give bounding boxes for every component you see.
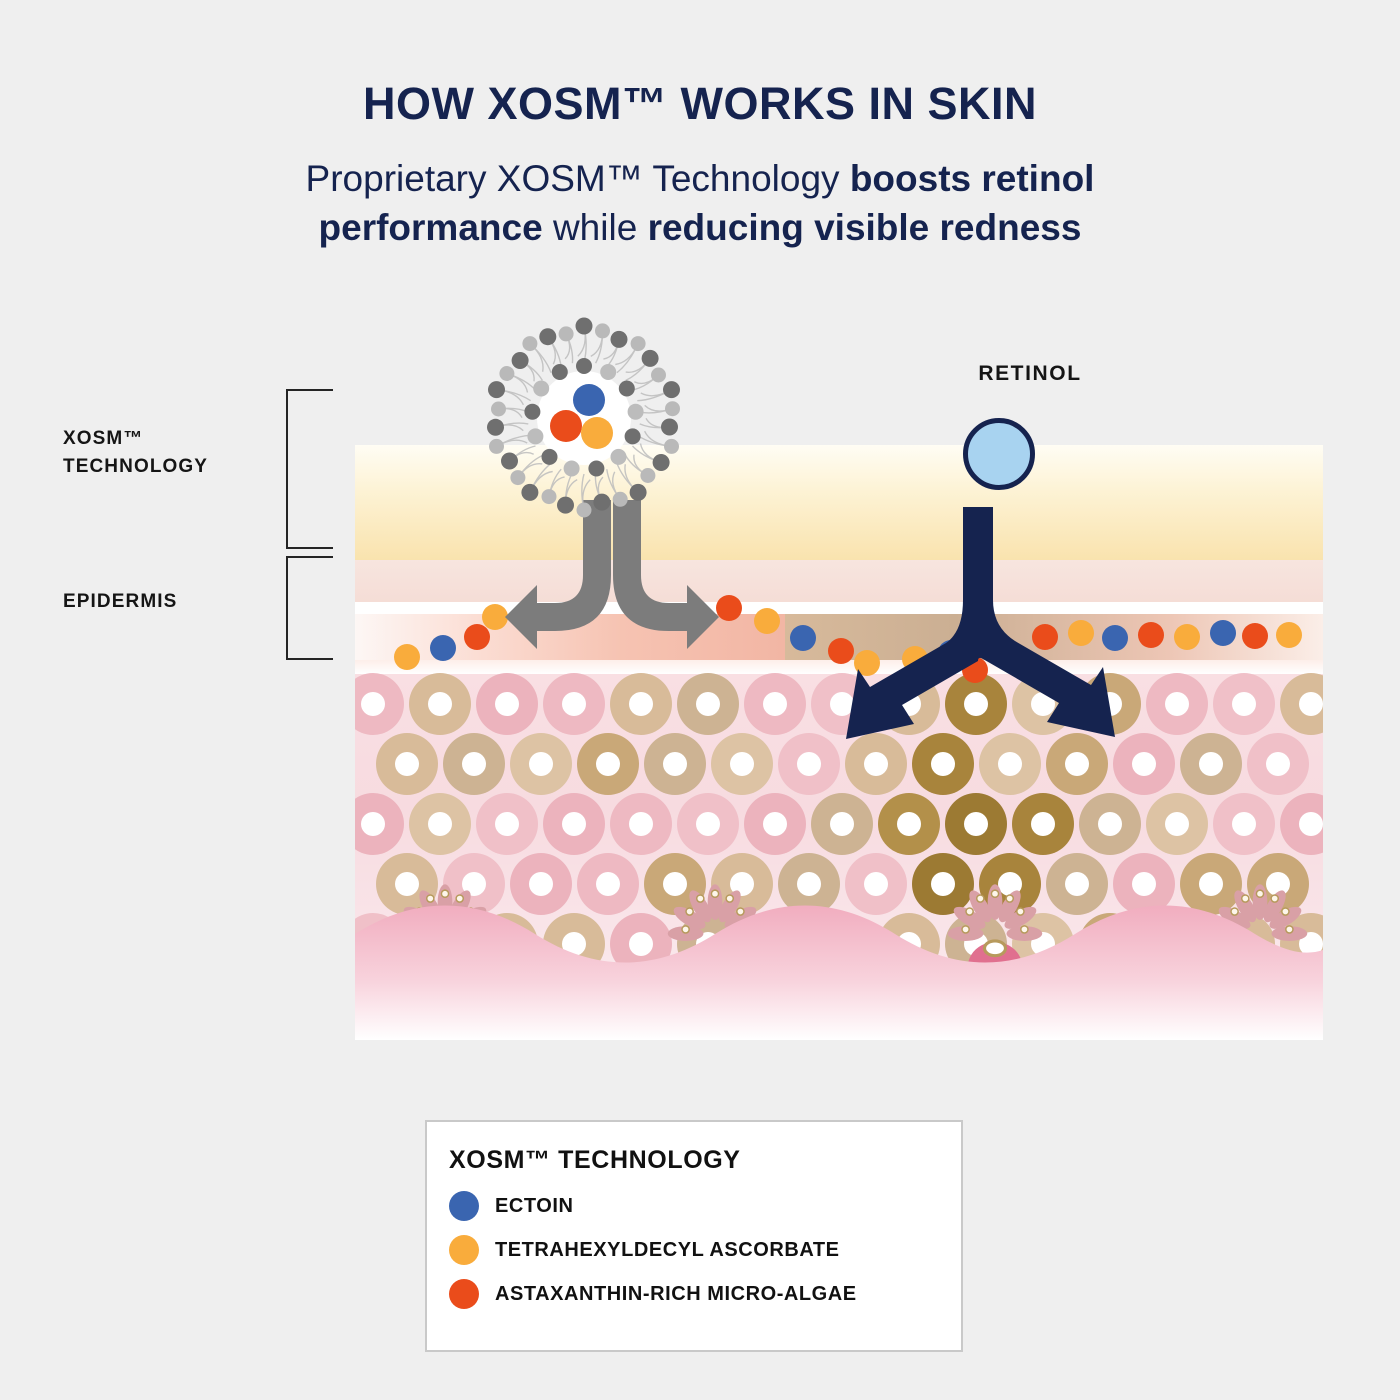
liposome-head-icon [489,439,504,454]
legend-item-2: ASTAXANTHIN-RICH MICRO-ALGAE [449,1279,961,1309]
legend-item-label: TETRAHEXYLDECYL ASCORBATE [495,1239,840,1262]
liposome-head-icon [664,439,679,454]
liposome-vesicle [473,307,695,529]
liposome-head-icon [593,494,610,511]
liposome-head-icon [512,352,529,369]
bracket-epidermis [286,556,333,660]
liposome-head-icon [576,318,593,335]
liposome-head-icon [613,492,628,507]
molecule-trail-left [394,604,508,670]
molecule-dot [1068,620,1094,646]
liposome-head-icon [542,489,557,504]
legend-title: XOSM™ TECHNOLOGY [449,1146,961,1175]
liposome-inner-head-icon [533,381,549,397]
label-epidermis: EPIDERMIS [63,588,278,616]
liposome-inner-head-icon [625,428,641,444]
molecule-dot [790,625,816,651]
molecule-dot [1032,624,1058,650]
liposome-head-icon [522,336,537,351]
liposome-head-icon [661,419,678,436]
molecule-dot [828,638,854,664]
liposome-head-icon [611,331,628,348]
liposome-head-icon [491,402,506,417]
liposome-head-icon [499,366,514,381]
legend-item-label: ASTAXANTHIN-RICH MICRO-ALGAE [495,1283,857,1306]
infographic-stage: HOW XOSM™ WORKS IN SKIN Proprietary XOSM… [0,0,1400,1400]
molecule-dot [1102,625,1128,651]
legend-swatch-icon [449,1191,479,1221]
liposome-inner-head-icon [564,461,580,477]
liposome-inner-head-icon [576,358,592,374]
bracket-xosm-technology [286,389,333,549]
liposome-head-icon [630,484,647,501]
liposome-head-icon [663,381,680,398]
liposome-inner-head-icon [611,449,627,465]
liposome-inner-head-icon [619,381,635,397]
liposome-head-icon [559,326,574,341]
liposome-head-icon [631,336,646,351]
subtitle-text-1: Proprietary XOSM™ Technology [306,158,850,199]
legend-box: XOSM™ TECHNOLOGY ECTOINTETRAHEXYLDECYL A… [425,1120,963,1352]
liposome-inner-head-icon [527,428,543,444]
legend-swatch-icon [449,1235,479,1265]
liposome-svg [473,307,695,529]
legend-item-1: TETRAHEXYLDECYL ASCORBATE [449,1235,961,1265]
legend-rows: ECTOINTETRAHEXYLDECYL ASCORBATEASTAXANTH… [449,1191,961,1309]
subtitle-bold-2: reducing visible redness [648,207,1082,248]
liposome-head-icon [557,497,574,514]
legend-swatch-icon [449,1279,479,1309]
liposome-head-icon [501,453,518,470]
liposome-head-icon [510,470,525,485]
retinol-molecule [963,418,1035,490]
label-xosm-technology: XOSM™ TECHNOLOGY [63,425,278,480]
molecule-dot [716,595,742,621]
liposome-inner-head-icon [600,364,616,380]
liposome-head-icon [640,468,655,483]
liposome-inner-head-icon [524,404,540,420]
molecule-dot [1242,623,1268,649]
molecule-dot [464,624,490,650]
liposome-inner-head-icon [588,461,604,477]
page-title: HOW XOSM™ WORKS IN SKIN [0,78,1400,130]
molecule-astaxanthin-core [550,410,582,442]
molecule-ectoin-core [573,384,605,416]
page-subtitle: Proprietary XOSM™ Technology boosts reti… [200,155,1200,253]
molecule-ascorbate-core [581,417,613,449]
liposome-head-icon [487,419,504,436]
molecule-dot [1276,622,1302,648]
molecule-dot [1174,624,1200,650]
molecule-dot [482,604,508,630]
liposome-inner-head-icon [552,364,568,380]
skin-cross-section-panel [355,445,1323,1040]
subtitle-text-2: while [543,207,648,248]
legend-item-label: ECTOIN [495,1195,574,1218]
liposome-inner-head-icon [542,449,558,465]
liposome-head-icon [651,368,666,383]
liposome-head-icon [595,323,610,338]
liposome-head-icon [653,454,670,471]
liposome-head-icon [488,381,505,398]
molecule-trail-right [680,595,880,676]
legend-item-0: ECTOIN [449,1191,961,1221]
liposome-inner-head-icon [628,404,644,420]
liposome-head-icon [539,328,556,345]
liposome-head-icon [665,401,680,416]
molecule-dot [1138,622,1164,648]
liposome-head-icon [642,350,659,367]
molecule-dot [394,644,420,670]
molecule-dot [430,635,456,661]
label-retinol: RETINOL [880,362,1180,386]
liposome-head-icon [577,503,592,518]
molecule-dot [754,608,780,634]
molecule-dot [1210,620,1236,646]
overlay-layer [355,445,1323,1040]
liposome-head-icon [521,484,538,501]
